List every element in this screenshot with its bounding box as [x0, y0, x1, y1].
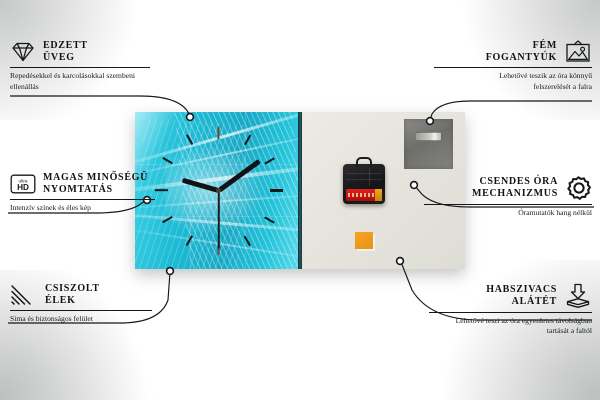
feature-magas-minosegu-nyomtatas[interactable]: ultra HD MAGAS MINŐSÉGŰ NYOMTATÁS Intenz…: [10, 172, 160, 214]
feature-subtitle: Sima és biztonságos felület: [10, 314, 150, 324]
feature-subtitle: Óramutatók hang nélkül: [452, 208, 592, 218]
feature-header: CSISZOLT ÉLEK: [10, 283, 155, 307]
feature-subtitle: Repedésekkel és karcolásokkal szembeni e…: [10, 71, 140, 92]
feature-title-line2: MECHANIZMUS: [472, 188, 558, 200]
feature-title-line1: MAGAS MINŐSÉGŰ: [43, 172, 148, 184]
feature-subtitle: Intenzív színek és éles kép: [10, 203, 150, 213]
foam-spacer-pad: [355, 232, 373, 249]
feature-title-line1: CSENDES ÓRA: [472, 176, 558, 188]
gear-icon: [565, 175, 592, 201]
glass-polished-edge: [298, 112, 302, 269]
feature-fem-fogantyuk[interactable]: FÉM FOGANTYÚK Lehetővé teszik az óra kön…: [432, 40, 592, 92]
polished-edge-icon: [10, 284, 38, 306]
glass-seam: [245, 112, 246, 269]
feature-title: EDZETT ÜVEG: [43, 40, 88, 64]
hanger-slot: [415, 132, 442, 141]
clock-tick: [270, 189, 283, 191]
feature-subtitle: Lehetővé teszi az óra egyenletes távolsá…: [440, 316, 592, 337]
picture-hanger-icon: [564, 40, 592, 64]
feature-title: FÉM FOGANTYÚK: [486, 40, 557, 64]
feature-title: HABSZIVACS ALÁTÉT: [486, 284, 557, 308]
metal-hanger-plate: [404, 119, 453, 169]
mechanism-groove: [346, 179, 383, 180]
feature-csendes-ora-mechanizmus[interactable]: CSENDES ÓRA MECHANIZMUS Óramutatók hang …: [422, 175, 592, 218]
feature-edzett-uveg[interactable]: EDZETT ÜVEG Repedésekkel és karcolásokka…: [10, 40, 155, 92]
feature-header: HABSZIVACS ALÁTÉT: [427, 283, 592, 309]
feature-header: CSENDES ÓRA MECHANIZMUS: [422, 175, 592, 201]
svg-text:HD: HD: [17, 183, 29, 192]
feature-title-line1: FÉM: [486, 40, 557, 52]
feature-title-line1: CSISZOLT: [45, 283, 100, 295]
infographic-stage: EDZETT ÜVEG Repedésekkel és karcolásokka…: [0, 0, 600, 400]
feature-header: EDZETT ÜVEG: [10, 40, 155, 64]
feature-title-line1: HABSZIVACS: [486, 284, 557, 296]
feature-divider: [10, 67, 150, 68]
mechanism-seam: [369, 168, 370, 186]
battery-label: [348, 193, 374, 197]
feature-divider: [10, 310, 152, 311]
feature-divider: [434, 67, 592, 68]
clock-second-hand: [218, 190, 220, 248]
feature-title-line1: EDZETT: [43, 40, 88, 52]
feature-title: MAGAS MINŐSÉGŰ NYOMTATÁS: [43, 172, 148, 196]
feature-csiszolt-elek[interactable]: CSISZOLT ÉLEK Sima és biztonságos felüle…: [10, 283, 155, 325]
product-photo: [135, 112, 465, 269]
mechanism-groove: [346, 173, 383, 174]
feature-divider: [424, 204, 592, 205]
feature-title-line2: NYOMTATÁS: [43, 184, 148, 196]
feature-subtitle: Lehetővé teszik az óra könnyű felszerelé…: [462, 71, 592, 92]
feature-divider: [10, 199, 155, 200]
clock-battery: [346, 189, 382, 201]
foam-press-icon: [564, 283, 592, 309]
ultra-hd-icon: ultra HD: [10, 173, 36, 195]
feature-title-line2: ALÁTÉT: [486, 296, 557, 308]
diamond-icon: [10, 41, 36, 63]
feature-title-line2: FOGANTYÚK: [486, 52, 557, 64]
clock-front-face: [135, 112, 302, 269]
feature-habszivacs-alatet[interactable]: HABSZIVACS ALÁTÉT Lehetővé teszi az óra …: [427, 283, 592, 337]
feature-header: ultra HD MAGAS MINŐSÉGŰ NYOMTATÁS: [10, 172, 160, 196]
battery-terminal: [375, 189, 382, 201]
glass-seam: [190, 112, 191, 269]
feature-divider: [429, 312, 592, 313]
clock-mechanism: [343, 164, 385, 204]
clock-tick: [217, 126, 219, 139]
glass-seam: [135, 164, 302, 165]
mechanism-hook: [356, 157, 372, 167]
clock-center-hub: [216, 188, 221, 193]
feature-title-line2: ÜVEG: [43, 52, 88, 64]
feature-title-line2: ÉLEK: [45, 295, 100, 307]
feature-title: CSISZOLT ÉLEK: [45, 283, 100, 307]
feature-header: FÉM FOGANTYÚK: [432, 40, 592, 64]
feature-title: CSENDES ÓRA MECHANIZMUS: [472, 176, 558, 200]
